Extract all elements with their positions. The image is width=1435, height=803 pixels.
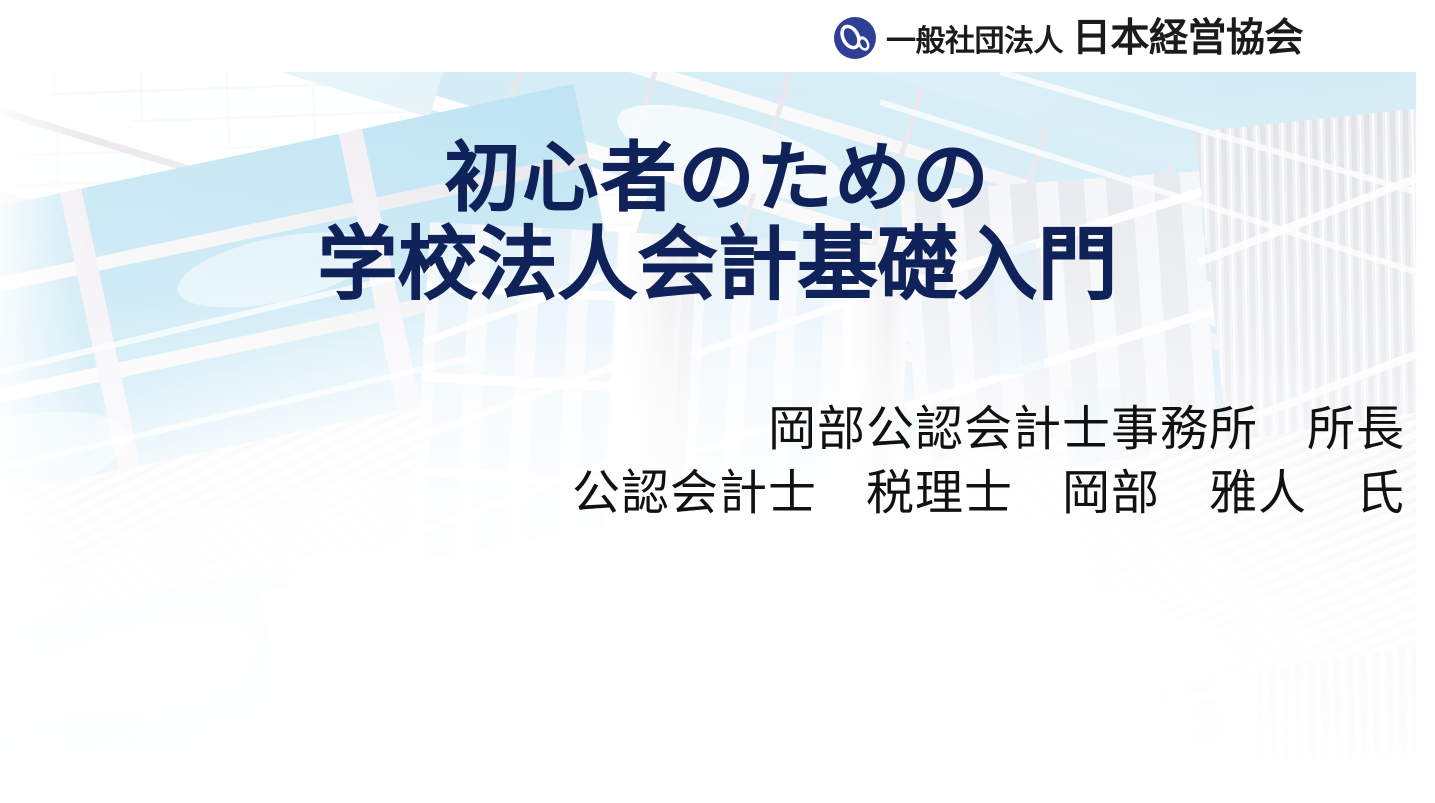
slide-title-line-1: 初心者のための <box>0 140 1435 218</box>
slide-title: 初心者のための 学校法人会計基礎入門 <box>0 140 1435 305</box>
presenter-affiliation: 岡部公認会計士事務所 所長 <box>572 398 1405 462</box>
association-kind-label: 一般社団法人 <box>886 27 1063 57</box>
presenter-name: 公認会計士 税理士 岡部 雅人 氏 <box>572 462 1405 526</box>
association-name: 一般社団法人 日本経営協会 <box>886 19 1303 58</box>
presenter-block: 岡部公認会計士事務所 所長 公認会計士 税理士 岡部 雅人 氏 <box>572 398 1405 526</box>
association-name-label: 日本経営協会 <box>1072 19 1303 58</box>
association-logo-lockup: 一般社団法人 日本経営協会 <box>833 15 1303 61</box>
footer-white-band <box>0 759 1435 803</box>
noma-circle-logo-icon <box>833 16 877 60</box>
brand-header: 一般社団法人 日本経営協会 <box>0 0 1435 72</box>
photo-right-margin <box>1416 72 1435 759</box>
slide-title-line-2: 学校法人会計基礎入門 <box>0 224 1435 306</box>
title-slide: 一般社団法人 日本経営協会 <box>0 0 1435 803</box>
